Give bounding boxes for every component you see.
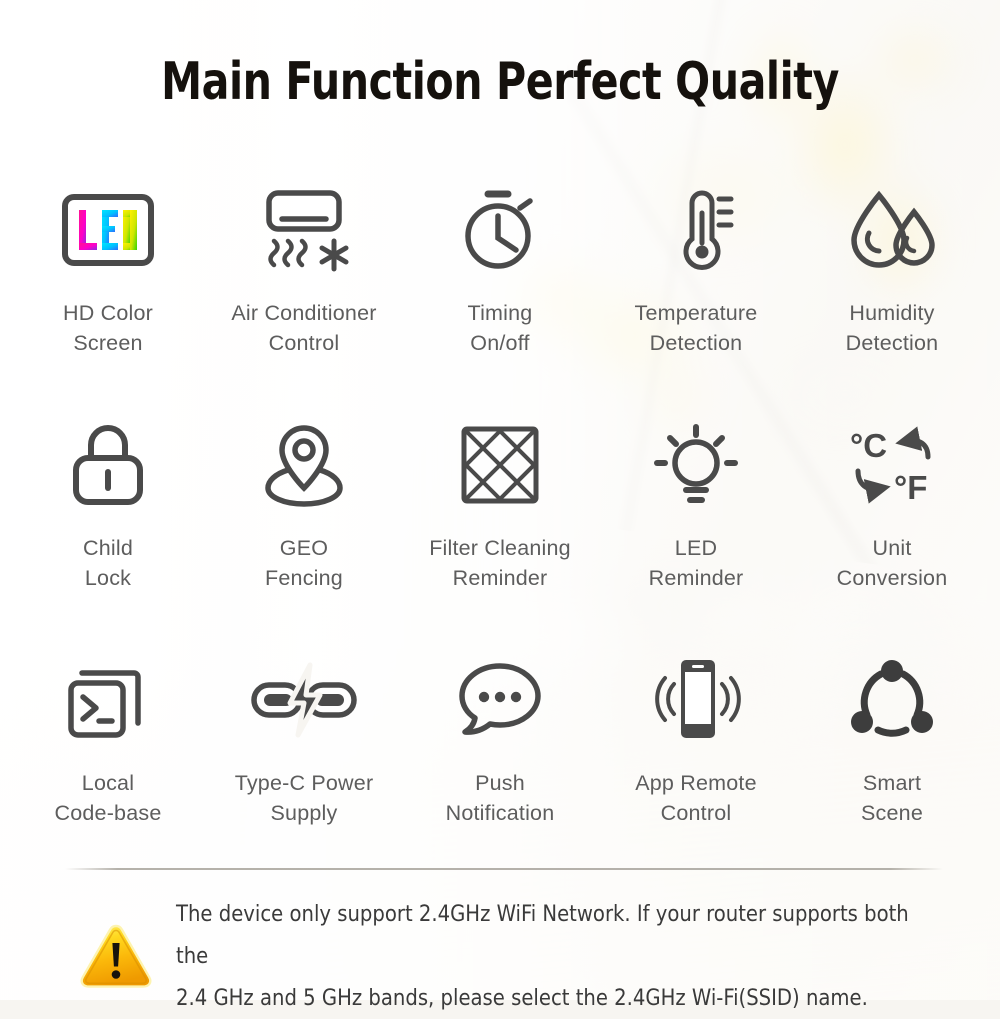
feature-item-hd-color-screen: HD Color Screen: [10, 176, 206, 411]
map-pin-geofence-icon: [239, 411, 369, 519]
light-bulb-icon: [631, 411, 761, 519]
unit-conversion-icon: °C °F: [827, 411, 957, 519]
filter-mesh-icon: [435, 411, 565, 519]
feature-grid: HD Color Screen: [10, 176, 990, 881]
unit-from-label: °C: [850, 427, 887, 464]
feature-item-smart-scene: Smart Scene: [794, 646, 990, 881]
feature-label: Smart Scene: [861, 768, 923, 828]
usb-type-c-power-icon: [239, 646, 369, 754]
feature-item-child-lock: Child Lock: [10, 411, 206, 646]
feature-item-humidity-detection: Humidity Detection: [794, 176, 990, 411]
air-conditioner-icon: [239, 176, 369, 284]
water-droplets-icon: [827, 176, 957, 284]
feature-item-unit-conversion: °C °F Unit Conversion: [794, 411, 990, 646]
feature-label: Child Lock: [83, 533, 133, 593]
feature-item-type-c-power-supply: Type-C Power Supply: [206, 646, 402, 881]
feature-item-local-code-base: Local Code-base: [10, 646, 206, 881]
feature-label: Timing On/off: [468, 298, 533, 358]
feature-item-timing-onoff: Timing On/off: [402, 176, 598, 411]
feature-item-led-reminder: LED Reminder: [598, 411, 794, 646]
feature-label: HD Color Screen: [63, 298, 153, 358]
feature-label: Temperature Detection: [635, 298, 758, 358]
feature-item-geo-fencing: GEO Fencing: [206, 411, 402, 646]
led-screen-icon: [43, 176, 173, 284]
thermometer-icon: [631, 176, 761, 284]
footer-notice: The device only support 2.4GHz WiFi Netw…: [78, 893, 948, 1019]
warning-triangle-icon: [78, 923, 154, 989]
feature-item-push-notification: Push Notification: [402, 646, 598, 881]
feature-label: LED Reminder: [649, 533, 744, 593]
smartphone-signal-icon: [631, 646, 761, 754]
footer-notice-text: The device only support 2.4GHz WiFi Netw…: [176, 893, 925, 1019]
feature-item-app-remote-control: App Remote Control: [598, 646, 794, 881]
feature-label: GEO Fencing: [265, 533, 343, 593]
feature-item-temperature-detection: Temperature Detection: [598, 176, 794, 411]
feature-label: Push Notification: [446, 768, 555, 828]
feature-label: Unit Conversion: [837, 533, 948, 593]
feature-label: Filter Cleaning Reminder: [429, 533, 571, 593]
speech-bubble-icon: [435, 646, 565, 754]
unit-to-label: °F: [894, 469, 927, 506]
padlock-icon: [43, 411, 173, 519]
share-nodes-icon: [827, 646, 957, 754]
terminal-window-icon: [43, 646, 173, 754]
feature-label: Humidity Detection: [846, 298, 939, 358]
feature-item-air-conditioner-control: Air Conditioner Control: [206, 176, 402, 411]
page-title: Main Function Perfect Quality: [60, 52, 940, 112]
feature-label: Type-C Power Supply: [235, 768, 374, 828]
feature-label: App Remote Control: [635, 768, 757, 828]
footer-divider: [65, 868, 943, 870]
stopwatch-timer-icon: [435, 176, 565, 284]
feature-label: Local Code-base: [55, 768, 162, 828]
feature-item-filter-cleaning-reminder: Filter Cleaning Reminder: [402, 411, 598, 646]
feature-label: Air Conditioner Control: [231, 298, 376, 358]
